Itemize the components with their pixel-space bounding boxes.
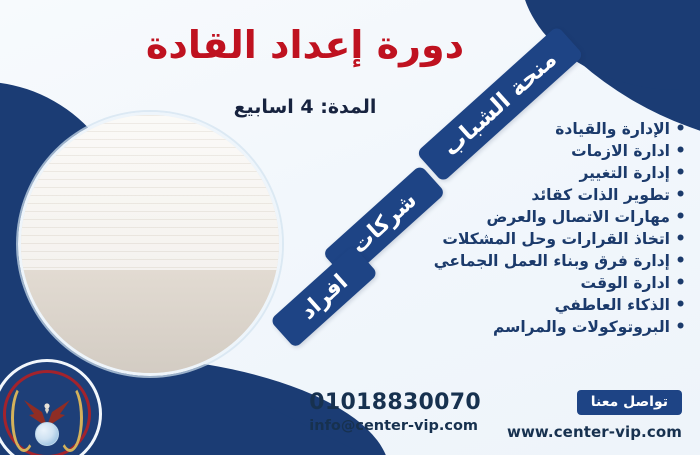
photo-background-floor	[21, 270, 279, 373]
footer-column-right: تواصل معنا www.center-vip.com	[507, 390, 682, 441]
footer-contact-bar: تواصل معنا www.center-vip.com 0101883007…	[309, 390, 682, 441]
list-item: اتخاذ القرارات وحل المشكلات	[366, 228, 686, 250]
page-title: دورة إعداد القادة	[90, 24, 520, 68]
list-item: تطوير الذات كقائد	[366, 184, 686, 206]
team-photo	[18, 112, 282, 376]
list-item: البروتوكولات والمراسم	[366, 316, 686, 338]
list-item: ادارة الازمات	[366, 140, 686, 162]
footer-column-left: 01018830070 info@center-vip.com	[309, 390, 481, 434]
website-link[interactable]: www.center-vip.com	[507, 423, 682, 441]
ribbon-individuals[interactable]: افراد	[270, 245, 379, 348]
photo-background-wall	[21, 115, 279, 275]
globe-icon	[35, 422, 59, 446]
course-topics-list: الإدارة والقيادة ادارة الازمات إدارة الت…	[366, 118, 686, 338]
list-item: إدارة التغيير	[366, 162, 686, 184]
course-duration: المدة: 4 اسابيع	[120, 96, 490, 118]
phone-number[interactable]: 01018830070	[309, 390, 481, 415]
list-item: مهارات الاتصال والعرض	[366, 206, 686, 228]
contact-us-button[interactable]: تواصل معنا	[577, 390, 682, 415]
email-address[interactable]: info@center-vip.com	[309, 418, 481, 434]
list-item: إدارة فرق وبناء العمل الجماعي	[366, 250, 686, 272]
list-item: الإدارة والقيادة	[366, 118, 686, 140]
list-item: الذكاء العاطفي	[366, 294, 686, 316]
list-item: ادارة الوقت	[366, 272, 686, 294]
poster-canvas: دورة إعداد القادة المدة: 4 اسابيع منحة ا…	[0, 0, 700, 455]
